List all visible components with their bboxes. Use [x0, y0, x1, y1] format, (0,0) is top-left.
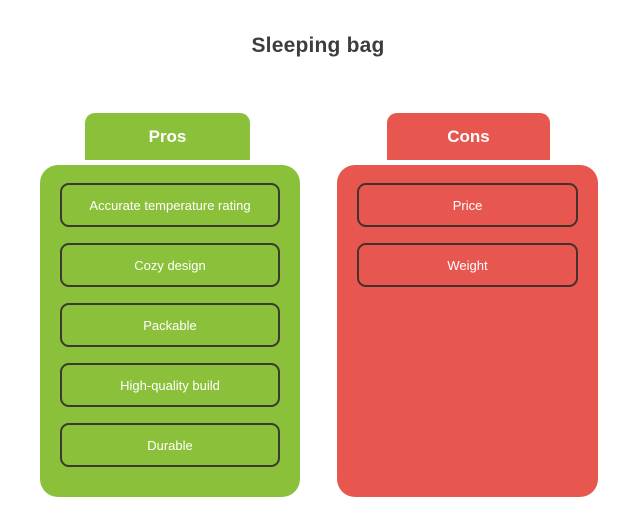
pros-header: Pros: [85, 113, 250, 160]
cons-header: Cons: [387, 113, 550, 160]
list-item[interactable]: Price: [357, 183, 578, 227]
list-item[interactable]: Packable: [60, 303, 280, 347]
list-item[interactable]: Cozy design: [60, 243, 280, 287]
list-item[interactable]: High-quality build: [60, 363, 280, 407]
list-item[interactable]: Accurate temperature rating: [60, 183, 280, 227]
pros-cons-chart: Sleeping bag Pros Accurate temperature r…: [0, 0, 636, 524]
list-item[interactable]: Durable: [60, 423, 280, 467]
cons-panel: Price Weight: [337, 165, 598, 497]
list-item[interactable]: Weight: [357, 243, 578, 287]
page-title: Sleeping bag: [0, 34, 636, 58]
pros-panel: Accurate temperature rating Cozy design …: [40, 165, 300, 497]
